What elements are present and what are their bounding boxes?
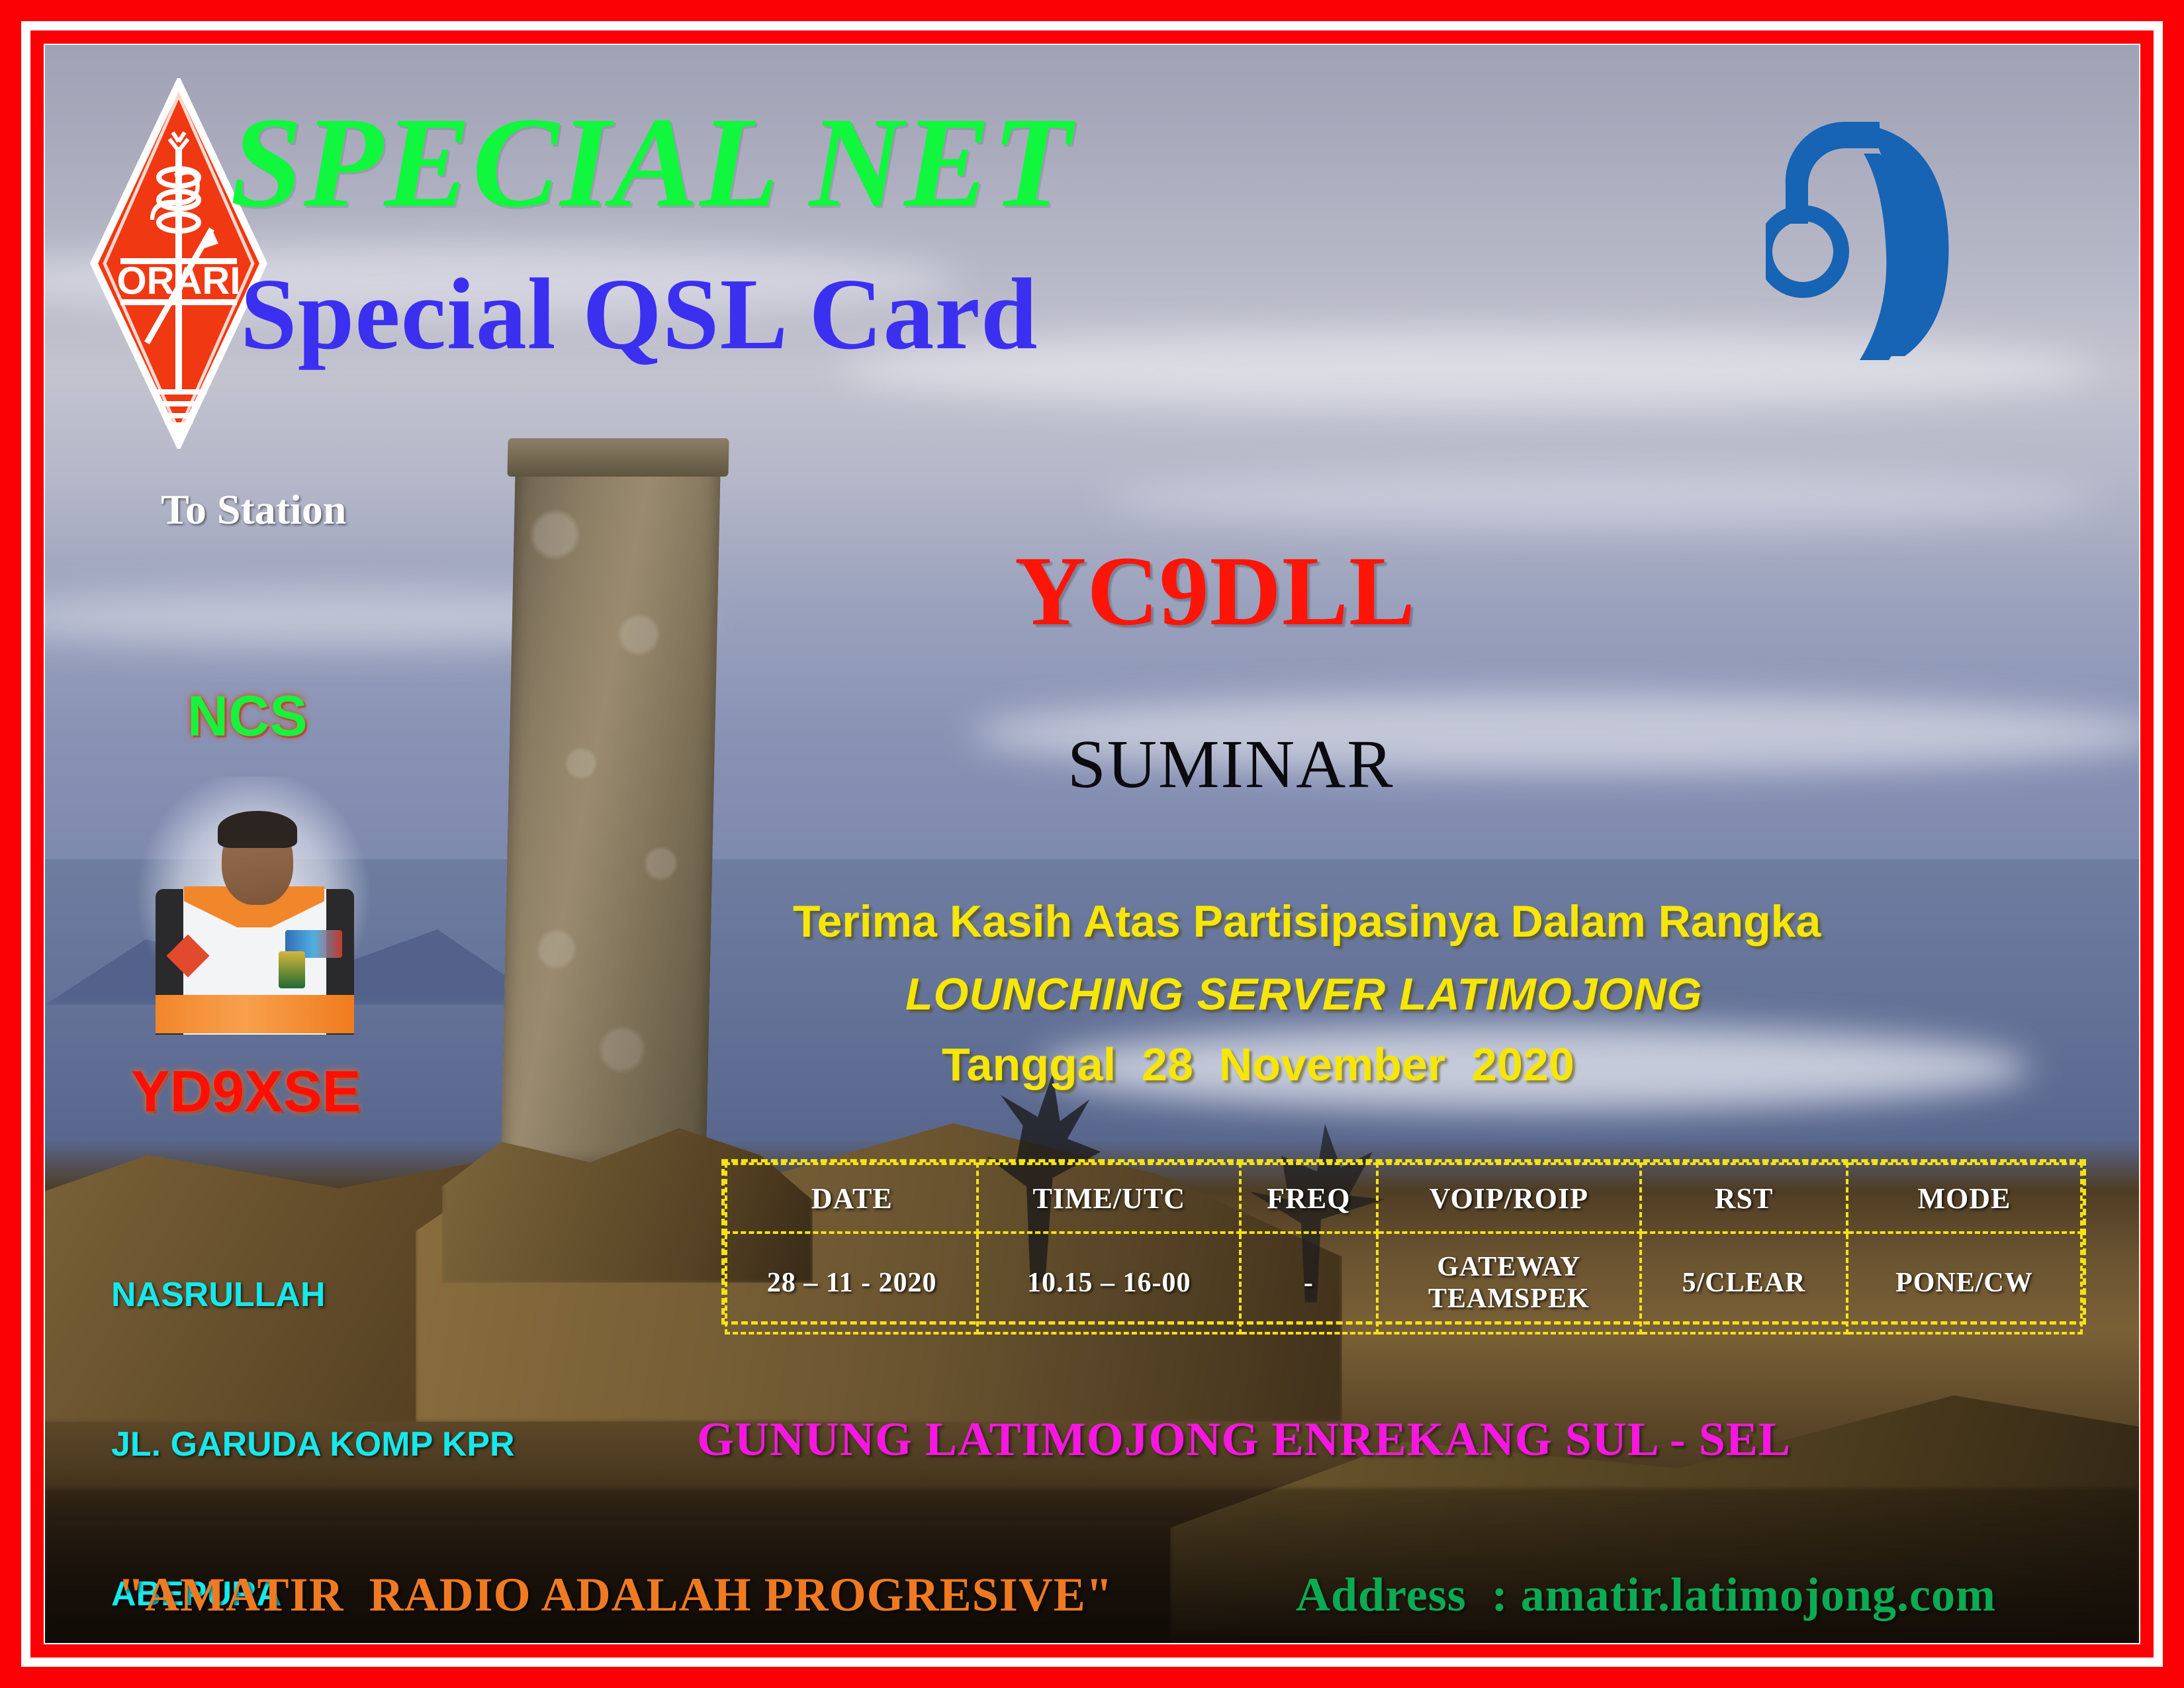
event-name-line: LOUNCHING SERVER LATIMOJONG	[905, 968, 1702, 1020]
headset-operator-logo	[1766, 85, 2044, 363]
card-content-layer: ORARI	[45, 45, 2139, 1643]
footer-slogan: "AMATIR RADIO ADALAH PROGRESIVE"	[118, 1568, 1113, 1622]
background-photograph: ORARI	[45, 45, 2139, 1643]
cell-voip-line1: GATEWAY	[1379, 1251, 1640, 1283]
table-row: 28 – 11 - 2020 10.15 – 16-00 - GATEWAY T…	[726, 1233, 2081, 1333]
footer-address-url: Address : amatir.latimojong.com	[1296, 1568, 1996, 1622]
column-header-freq: FREQ	[1240, 1164, 1377, 1233]
page-title: SPECIAL NET	[230, 98, 1073, 228]
operator-portrait-photo	[121, 776, 386, 1035]
qsl-card: ORARI	[0, 0, 2184, 1688]
qso-details-table: DATE TIME/UTC FREQ VOIP/ROIP RST MODE 28…	[721, 1159, 2086, 1325]
column-header-voip: VOIP/ROIP	[1377, 1164, 1641, 1233]
cell-date: 28 – 11 - 2020	[726, 1233, 978, 1333]
portrait-sash	[156, 995, 354, 1033]
ncs-label: NCS	[187, 684, 308, 749]
operator-name: SUMINAR	[1068, 730, 1394, 799]
cell-time: 10.15 – 16-00	[978, 1233, 1240, 1333]
cell-mode: PONE/CW	[1847, 1233, 2081, 1333]
cell-voip-line2: TEAMSPEK	[1379, 1283, 1640, 1315]
page-subtitle: Special QSL Card	[240, 263, 1038, 365]
column-header-time: TIME/UTC	[978, 1164, 1240, 1233]
event-date-line: Tanggal 28 November 2020	[942, 1038, 1574, 1091]
cell-freq: -	[1240, 1233, 1377, 1333]
portrait-hair	[218, 811, 297, 848]
column-header-date: DATE	[726, 1164, 978, 1233]
mountain-location-caption: GUNUNG LATIMOJONG ENREKANG SUL - SEL	[697, 1412, 1791, 1467]
orari-logo-text: ORARI	[117, 259, 241, 303]
event-thanks-line: Terima Kasih Atas Partisipasinya Dalam R…	[793, 896, 1821, 947]
station-callsign: YC9DLL	[1015, 541, 1416, 641]
address-line: NASRULLAH	[111, 1270, 644, 1320]
cell-voip: GATEWAY TEAMSPEK	[1377, 1233, 1641, 1333]
address-line: JL. GARUDA KOMP KPR	[111, 1420, 644, 1470]
portrait-id-badge	[279, 951, 305, 988]
column-header-rst: RST	[1641, 1164, 1847, 1233]
ncs-callsign: YD9XSE	[131, 1058, 361, 1125]
column-header-mode: MODE	[1847, 1164, 2081, 1233]
table-header-row: DATE TIME/UTC FREQ VOIP/ROIP RST MODE	[726, 1164, 2081, 1233]
cell-rst: 5/CLEAR	[1641, 1233, 1847, 1333]
to-station-label: To Station	[161, 485, 346, 534]
